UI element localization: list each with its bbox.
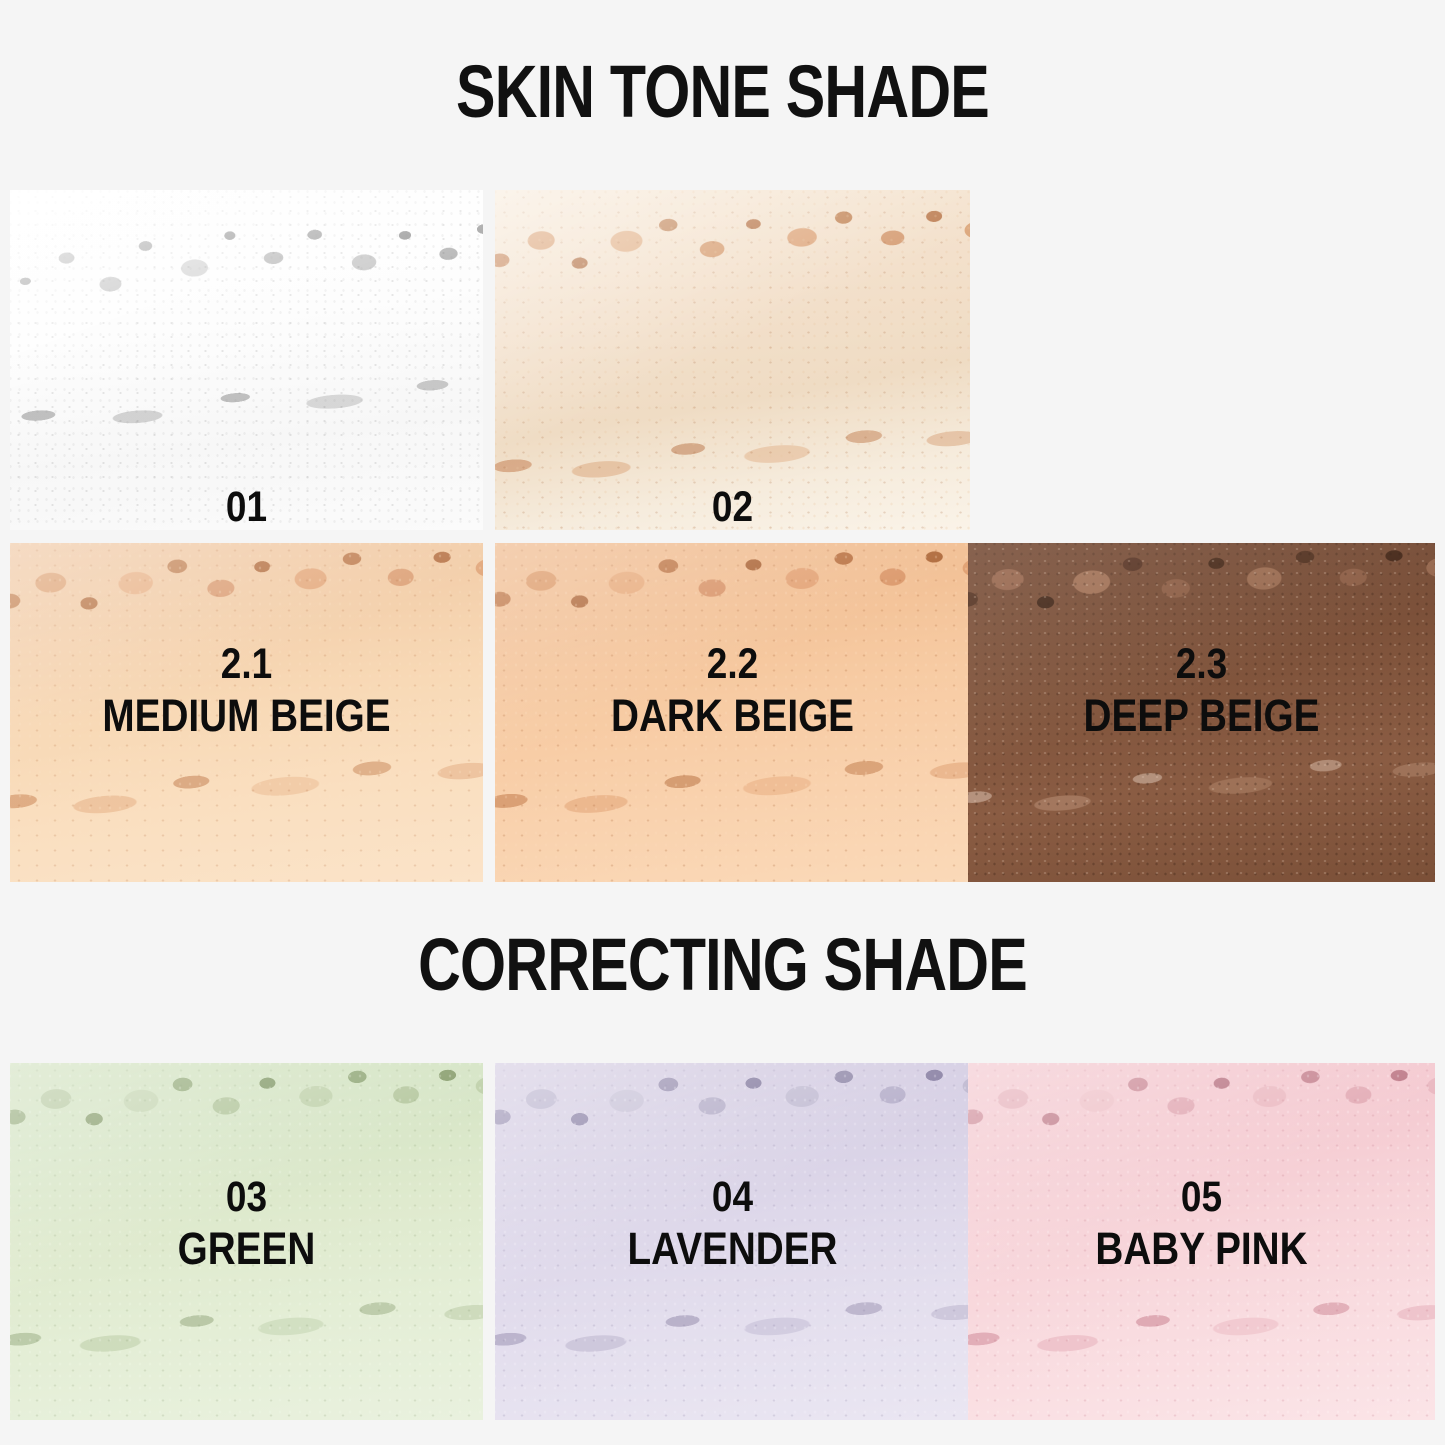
shade-swatch-22-dark-beige[interactable]: 2.2 DARK BEIGE xyxy=(495,543,970,882)
shade-swatch-23-deep-beige[interactable]: 2.3 DEEP BEIGE xyxy=(968,543,1435,882)
powder-texture xyxy=(10,1063,483,1420)
shade-chart-page: SKIN TONE SHADE 01 WHITE 02 SKIN BEIGE xyxy=(0,0,1445,1445)
powder-sheen xyxy=(10,190,483,530)
shade-swatch-01-white[interactable]: 01 WHITE xyxy=(10,190,483,530)
powder-texture xyxy=(495,190,970,530)
powder-sheen xyxy=(495,1063,970,1420)
powder-sheen xyxy=(10,1063,483,1420)
powder-texture xyxy=(495,543,970,882)
powder-texture xyxy=(968,543,1435,882)
shade-swatch-05-baby-pink[interactable]: 05 BABY PINK xyxy=(968,1063,1435,1420)
powder-sheen xyxy=(968,543,1435,882)
powder-texture xyxy=(10,190,483,530)
shade-swatch-04-lavender[interactable]: 04 LAVENDER xyxy=(495,1063,970,1420)
powder-texture xyxy=(495,1063,970,1420)
powder-sheen xyxy=(495,543,970,882)
powder-sheen xyxy=(495,190,970,530)
powder-texture xyxy=(968,1063,1435,1420)
powder-texture xyxy=(10,543,483,882)
powder-sheen xyxy=(10,543,483,882)
section-title-correcting: CORRECTING SHADE xyxy=(145,925,1301,1005)
powder-sheen xyxy=(968,1063,1435,1420)
shade-swatch-21-medium-beige[interactable]: 2.1 MEDIUM BEIGE xyxy=(10,543,483,882)
shade-swatch-03-green[interactable]: 03 GREEN xyxy=(10,1063,483,1420)
shade-swatch-02-skin-beige[interactable]: 02 SKIN BEIGE xyxy=(495,190,970,530)
section-title-skin-tone: SKIN TONE SHADE xyxy=(145,52,1301,132)
